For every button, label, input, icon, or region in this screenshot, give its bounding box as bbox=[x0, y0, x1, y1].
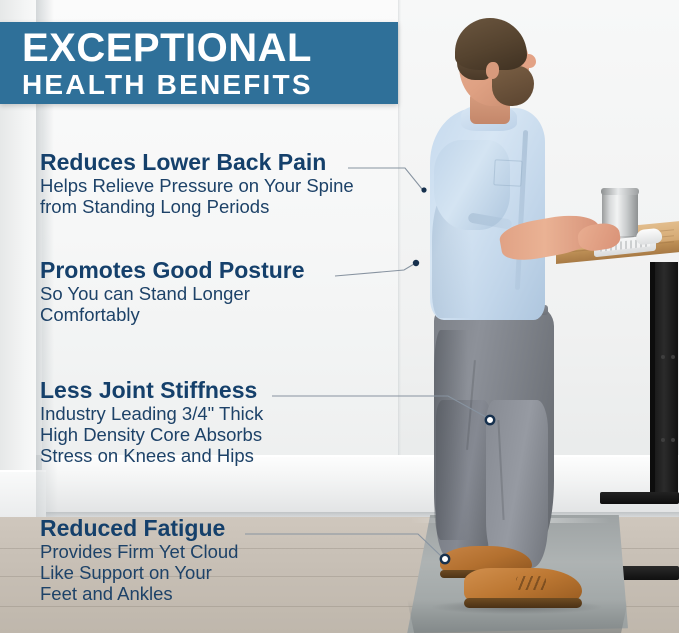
benefit-title: Reduced Fatigue bbox=[40, 516, 238, 541]
benefit-line: Feet and Ankles bbox=[40, 583, 238, 604]
desk-leg-bolt bbox=[661, 355, 665, 359]
desk-leg-bolt bbox=[661, 438, 665, 442]
shirt-pocket bbox=[493, 159, 522, 186]
benefit-line: Comfortably bbox=[40, 304, 305, 325]
shoe-laces bbox=[516, 576, 546, 590]
wall-seam bbox=[398, 0, 401, 470]
benefit-line: from Standing Long Periods bbox=[40, 196, 354, 217]
benefit-line: Provides Firm Yet Cloud bbox=[40, 541, 238, 562]
benefit-line: Helps Relieve Pressure on Your Spine bbox=[40, 175, 354, 196]
desk-foot-rear bbox=[600, 492, 679, 504]
desk-leg-bolt bbox=[671, 438, 675, 442]
desk-leg-front bbox=[655, 262, 678, 502]
benefit-title: Reduces Lower Back Pain bbox=[40, 150, 354, 175]
benefit-block-1: Reduces Lower Back Pain Helps Relieve Pr… bbox=[40, 150, 354, 217]
benefit-block-3: Less Joint Stiffness Industry Leading 3/… bbox=[40, 378, 263, 466]
benefit-line: So You can Stand Longer bbox=[40, 283, 305, 304]
benefit-title: Less Joint Stiffness bbox=[40, 378, 263, 403]
desk-leg-bolt bbox=[671, 355, 675, 359]
pants-leg-front bbox=[486, 400, 548, 568]
benefit-block-2: Promotes Good Posture So You can Stand L… bbox=[40, 258, 305, 325]
header-banner: EXCEPTIONAL HEALTH BENEFITS bbox=[0, 22, 398, 104]
banner-title-line1: EXCEPTIONAL bbox=[0, 22, 398, 68]
pants-shadow bbox=[434, 330, 468, 540]
benefit-line: Like Support on Your bbox=[40, 562, 238, 583]
ear bbox=[486, 62, 499, 79]
banner-title-line2: HEALTH BENEFITS bbox=[0, 68, 398, 100]
benefit-line: Industry Leading 3/4" Thick bbox=[40, 403, 263, 424]
benefit-line: Stress on Knees and Hips bbox=[40, 445, 263, 466]
benefit-title: Promotes Good Posture bbox=[40, 258, 305, 283]
shoe-right-sole bbox=[464, 598, 582, 608]
benefit-block-4: Reduced Fatigue Provides Firm Yet Cloud … bbox=[40, 516, 238, 604]
benefit-line: High Density Core Absorbs bbox=[40, 424, 263, 445]
infographic-canvas: EXCEPTIONAL HEALTH BENEFITS Reduces Lowe… bbox=[0, 0, 679, 633]
tumbler-lid bbox=[601, 188, 639, 195]
